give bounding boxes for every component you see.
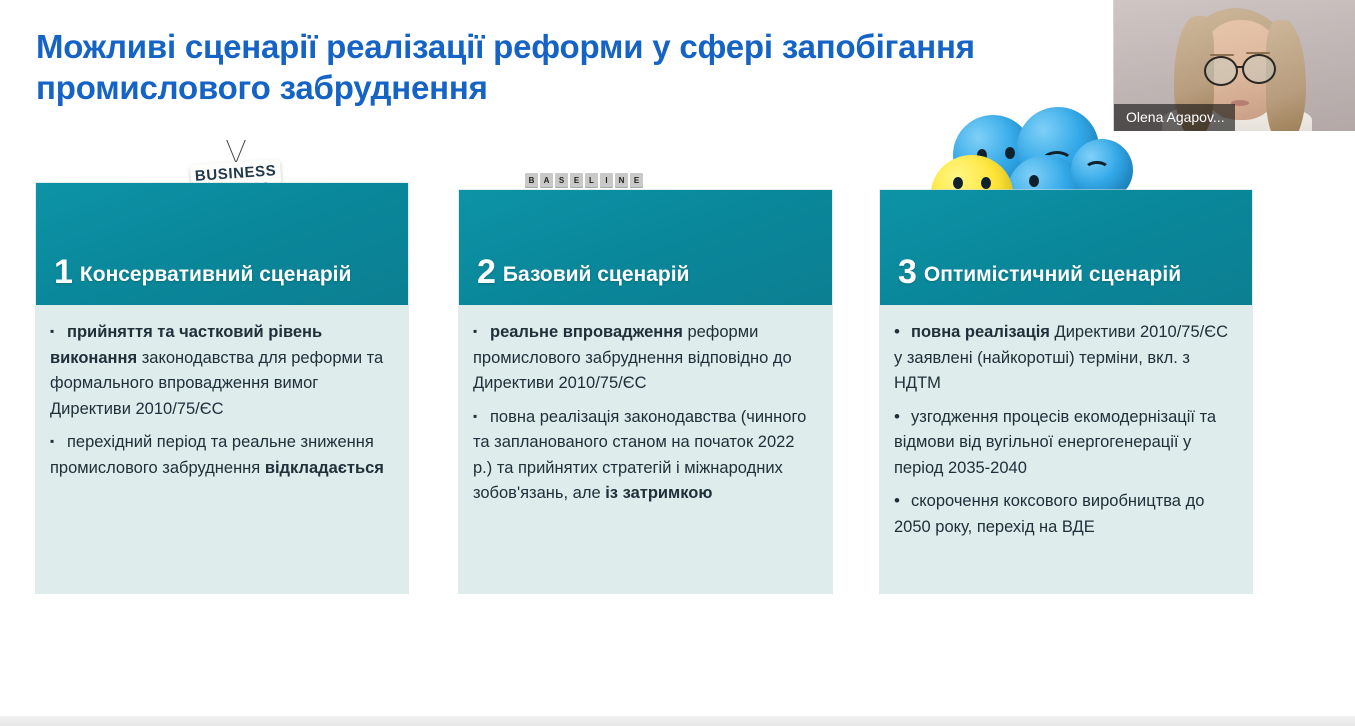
glasses-lens-right [1242, 54, 1276, 84]
bullet-marker: • [894, 488, 911, 514]
scenario-heading: Консервативний сценарій [80, 263, 351, 286]
scenario-card-1-header: 1Консервативний сценарій [36, 183, 408, 305]
scenario-number: 3 [898, 253, 917, 291]
list-item: •скорочення коксового виробництва до 205… [894, 488, 1236, 540]
bullet-marker: ▪ [50, 319, 67, 345]
scenario-card-1-body: ▪прийняття та частковий рівень виконання… [36, 305, 408, 498]
slide-bottom-edge [0, 716, 1355, 726]
scenario-card-2[interactable]: 2Базовий сценарій ▪реальне впровадження … [459, 190, 832, 593]
scenario-card-3-header: 3Оптимістичний сценарій [880, 190, 1252, 305]
zoom-screen-share-stage: Можливі сценарії реалізації реформи у сф… [0, 0, 1355, 726]
tile-letter: N [615, 173, 628, 188]
list-item: •повна реалізація Директиви 2010/75/ЄС у… [894, 319, 1236, 397]
scenario-card-2-header: 2Базовий сценарій [459, 190, 832, 305]
slide-footer: USAID USAID FROM THE AMERICAN PEOPLE zoo… [0, 640, 1355, 726]
participant-name-badge: Olena Agapov... [1114, 104, 1235, 131]
list-item: ▪повна реалізація законодавства (чинного… [473, 404, 816, 507]
bullet-marker: ▪ [473, 319, 490, 345]
scenario-heading: Базовий сценарій [503, 263, 690, 286]
scenario-heading: Оптимістичний сценарій [924, 263, 1181, 286]
scenario-card-2-body: ▪реальне впровадження реформи промислово… [459, 305, 832, 524]
tile-letter: I [600, 173, 613, 188]
scenario-number: 1 [54, 253, 73, 291]
tile-letter: S [555, 173, 568, 188]
scenario-card-3[interactable]: 3Оптимістичний сценарій •повна реалізаці… [880, 190, 1252, 593]
glasses-lens-left [1204, 56, 1238, 86]
list-item: ▪перехідний період та реальне зниження п… [50, 429, 392, 481]
bullet-text: скорочення коксового виробництва до 2050… [894, 492, 1204, 536]
list-item: •узгодження процесів екомодернізації та … [894, 404, 1236, 482]
scenario-card-3-body: •повна реалізація Директиви 2010/75/ЄС у… [880, 305, 1252, 557]
scenario-card-1-title: 1Консервативний сценарій [54, 257, 390, 291]
tile-letter: B [525, 173, 538, 188]
bullet-text: узгодження процесів екомодернізації та в… [894, 408, 1216, 477]
sad-balloon-icon [1017, 107, 1099, 189]
bullet-bold-text: відкладається [265, 459, 384, 477]
bullet-marker: ▪ [50, 429, 67, 455]
bullet-bold-text: повна реалізація [911, 323, 1055, 341]
tile-letter: A [540, 173, 553, 188]
sad-balloon-icon [953, 115, 1033, 195]
scenario-number: 2 [477, 253, 496, 291]
scenario-card-1[interactable]: 1Консервативний сценарій ▪прийняття та ч… [36, 183, 408, 593]
scenario-card-2-title: 2Базовий сценарій [477, 257, 814, 291]
glasses-bridge [1236, 66, 1244, 68]
participant-video-tile[interactable]: Olena Agapov... [1113, 0, 1355, 131]
tile-letter: L [585, 173, 598, 188]
bullet-marker: • [894, 319, 911, 345]
page-title: Можливі сценарії реалізації реформи у сф… [36, 26, 1236, 108]
tile-letter: E [630, 173, 643, 188]
list-item: ▪реальне впровадження реформи промислово… [473, 319, 816, 397]
bullet-marker: ▪ [473, 404, 490, 430]
baseline-tiles: B A S E L I N E [525, 173, 643, 188]
bullet-bold-text: із затримкою [605, 484, 712, 502]
tile-letter: E [570, 173, 583, 188]
sign-line-1: BUSINESS [190, 163, 281, 185]
bullet-bold-text: реальне впровадження [490, 323, 687, 341]
list-item: ▪прийняття та частковий рівень виконання… [50, 319, 392, 422]
scenario-card-3-title: 3Оптимістичний сценарій [898, 257, 1234, 291]
bullet-marker: • [894, 404, 911, 430]
